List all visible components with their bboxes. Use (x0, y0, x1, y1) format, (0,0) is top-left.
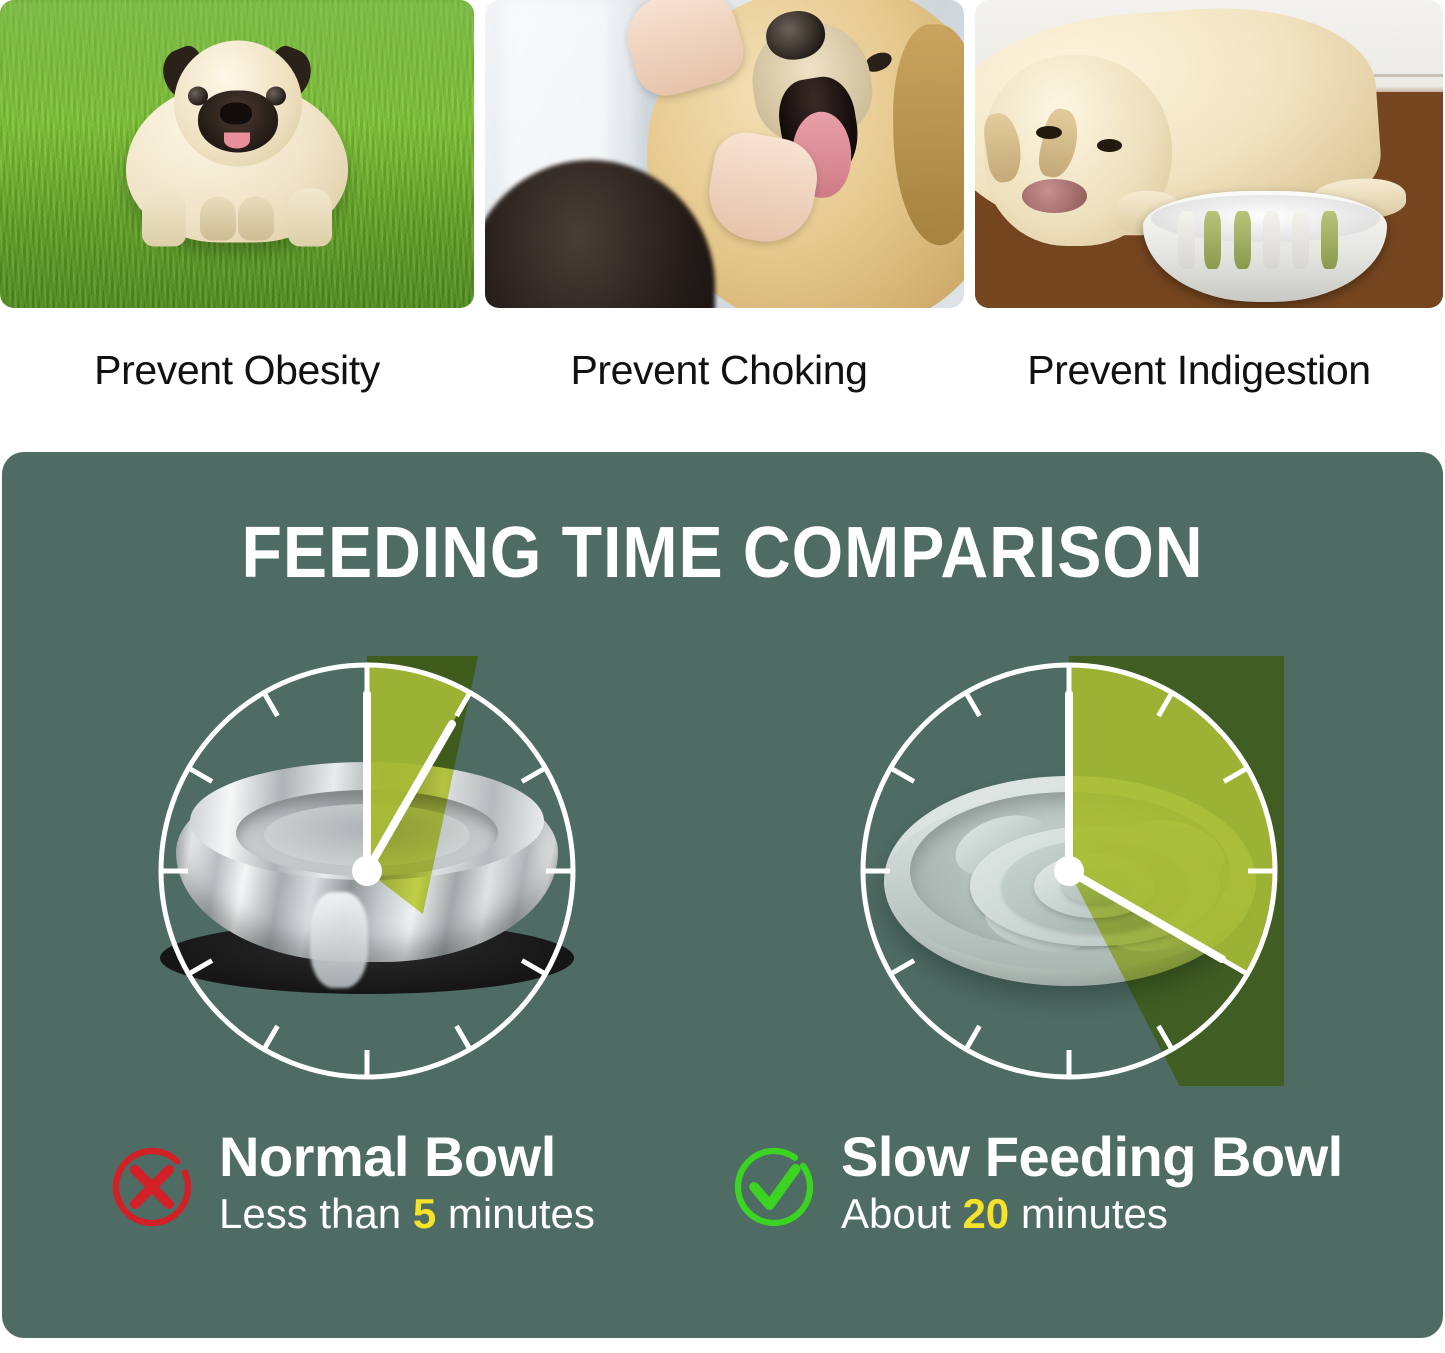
photo-prevent-choking (485, 0, 964, 308)
sub-suffix-normal: minutes (448, 1190, 595, 1237)
clock-normal-bowl (152, 656, 582, 1086)
pug-tongue (224, 132, 250, 148)
clock-dial-slow (854, 656, 1284, 1086)
bowl-ridge (1234, 211, 1251, 269)
benefit-photo-strip (0, 0, 1445, 312)
bowl-ridge (1263, 211, 1280, 269)
photo-prevent-obesity (0, 0, 474, 308)
sub-prefix-normal: Less than (219, 1190, 401, 1237)
clock-dial-normal (152, 656, 582, 1086)
bowl-ridge (1204, 211, 1221, 269)
pug-dog-illustration (112, 34, 362, 249)
labrador-ear-right (1036, 106, 1083, 180)
sub-prefix-slow: About (841, 1190, 951, 1237)
pug-leg-right (288, 188, 332, 246)
bowl-ridge (1321, 211, 1338, 269)
label-subtitle-normal: Less than 5 minutes (219, 1189, 595, 1239)
caption-prevent-choking: Prevent Choking (474, 320, 964, 420)
labrador-nose (1022, 179, 1088, 213)
label-normal-bowl: Normal Bowl Less than 5 minutes (107, 1128, 595, 1268)
labrador-eye-left (1036, 126, 1062, 139)
label-title-normal: Normal Bowl (219, 1128, 595, 1185)
retriever-ear (892, 23, 964, 245)
sub-number-normal: 5 (413, 1190, 436, 1237)
labrador-eye-right (1097, 139, 1123, 152)
label-slow-feeding-bowl: Slow Feeding Bowl About 20 minutes (729, 1128, 1343, 1268)
label-subtitle-slow: About 20 minutes (841, 1189, 1343, 1239)
label-normal-text: Normal Bowl Less than 5 minutes (219, 1128, 595, 1239)
clock-center-pin (352, 856, 382, 886)
benefit-caption-row: Prevent Obesity Prevent Choking Prevent … (0, 320, 1445, 420)
pug-leg-mid-left (200, 196, 236, 240)
caption-prevent-indigestion: Prevent Indigestion (964, 320, 1434, 420)
sub-number-slow: 20 (962, 1190, 1009, 1237)
pug-leg-left (142, 188, 186, 246)
clock-slow-feeding-bowl (854, 656, 1284, 1086)
feeding-time-comparison-panel: FEEDING TIME COMPARISON (2, 452, 1443, 1338)
sub-suffix-slow: minutes (1021, 1190, 1168, 1237)
label-slow-text: Slow Feeding Bowl About 20 minutes (841, 1128, 1343, 1239)
labrador-ear-left (982, 111, 1025, 184)
pug-nose (220, 102, 252, 124)
check-mark-icon (729, 1142, 819, 1232)
bowl-ridge (1178, 211, 1195, 269)
photo-prevent-indigestion (975, 0, 1443, 308)
bowl-ridge (1292, 211, 1309, 269)
page-title: FEEDING TIME COMPARISON (60, 512, 1386, 594)
x-mark-icon (107, 1142, 197, 1232)
label-title-slow: Slow Feeding Bowl (841, 1128, 1343, 1185)
pug-leg-mid-right (238, 196, 274, 240)
clock-center-pin (1054, 856, 1084, 886)
caption-prevent-obesity: Prevent Obesity (0, 320, 474, 420)
